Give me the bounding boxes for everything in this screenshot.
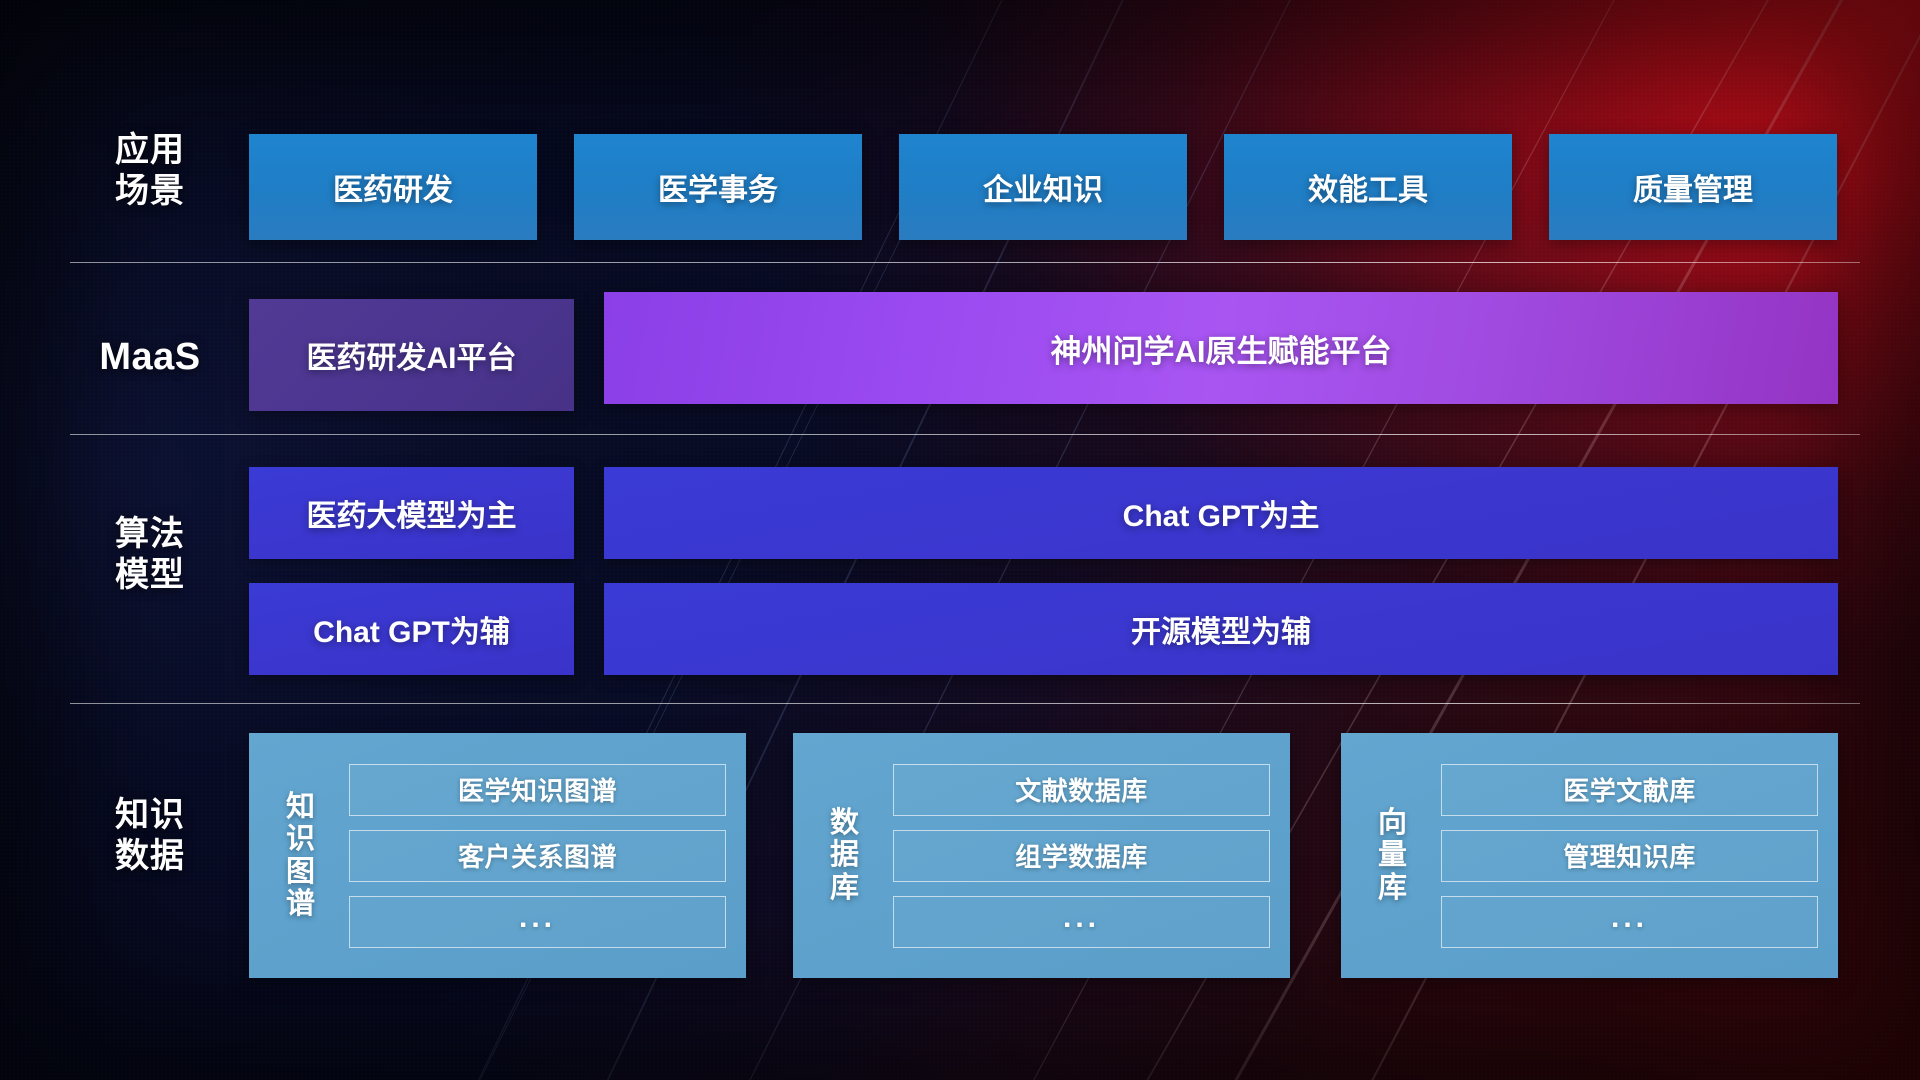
architecture-diagram: 应用 场景 医药研发 医学事务 企业知识 效能工具 质量管理 MaaS 医药研发… <box>0 0 1920 1080</box>
knowledge-group-database[interactable]: 数 据 库 文献数据库 组学数据库 ... <box>793 733 1290 978</box>
knowledge-group-side-label: 数 据 库 <box>807 807 883 904</box>
maas-card-shenzhou-wenxue-platform[interactable]: 神州问学AI原生赋能平台 <box>604 292 1838 404</box>
app-card-label: 企业知识 <box>983 165 1103 209</box>
app-card-medical-affairs[interactable]: 医学事务 <box>574 134 862 240</box>
maas-card-label: 神州问学AI原生赋能平台 <box>1051 326 1392 371</box>
knowledge-group-item-list: 医学文献库 管理知识库 ... <box>1431 764 1824 948</box>
knowledge-item-customer-relation-graph[interactable]: 客户关系图谱 <box>349 830 726 882</box>
knowledge-group-knowledge-graph[interactable]: 知 识 图 谱 医学知识图谱 客户关系图谱 ... <box>249 733 746 978</box>
algo-card-chatgpt-primary[interactable]: Chat GPT为主 <box>604 467 1838 559</box>
knowledge-item-label: 医学知识图谱 <box>458 771 617 808</box>
knowledge-item-management-knowledge-library[interactable]: 管理知识库 <box>1441 830 1818 882</box>
knowledge-item-label: 医学文献库 <box>1563 771 1696 808</box>
app-card-pharma-rd[interactable]: 医药研发 <box>249 134 537 240</box>
app-card-label: 医学事务 <box>658 165 778 209</box>
knowledge-item-label: 文献数据库 <box>1015 771 1148 808</box>
knowledge-item-label: 组学数据库 <box>1015 837 1148 874</box>
divider-maas-algorithm <box>70 434 1860 435</box>
divider-application-maas <box>70 262 1860 263</box>
knowledge-item-label: ... <box>1611 901 1648 935</box>
row-label-maas: MaaS <box>70 335 230 381</box>
row-label-knowledge-data: 知识 数据 <box>70 795 230 877</box>
app-card-quality-management[interactable]: 质量管理 <box>1549 134 1837 240</box>
app-card-label: 效能工具 <box>1308 165 1428 209</box>
knowledge-item-omics-database[interactable]: 组学数据库 <box>893 830 1270 882</box>
app-card-label: 质量管理 <box>1633 165 1753 209</box>
row-label-algorithm-models: 算法 模型 <box>70 514 230 596</box>
row-label-application-scenarios: 应用 场景 <box>70 130 230 212</box>
knowledge-item-more[interactable]: ... <box>893 896 1270 948</box>
algo-card-chatgpt-secondary[interactable]: Chat GPT为辅 <box>249 583 574 675</box>
knowledge-group-item-list: 医学知识图谱 客户关系图谱 ... <box>339 764 732 948</box>
knowledge-item-literature-database[interactable]: 文献数据库 <box>893 764 1270 816</box>
knowledge-group-item-list: 文献数据库 组学数据库 ... <box>883 764 1276 948</box>
app-card-enterprise-knowledge[interactable]: 企业知识 <box>899 134 1187 240</box>
knowledge-item-label: ... <box>519 901 556 935</box>
knowledge-group-side-label: 向 量 库 <box>1355 807 1431 904</box>
knowledge-group-side-label: 知 识 图 谱 <box>263 791 339 921</box>
algo-card-pharma-llm-primary[interactable]: 医药大模型为主 <box>249 467 574 559</box>
app-card-label: 医药研发 <box>333 165 453 209</box>
maas-card-pharma-ai-platform[interactable]: 医药研发AI平台 <box>249 299 574 411</box>
knowledge-group-vector-database[interactable]: 向 量 库 医学文献库 管理知识库 ... <box>1341 733 1838 978</box>
algo-card-label: Chat GPT为辅 <box>313 607 510 651</box>
divider-algorithm-knowledge <box>70 703 1860 704</box>
knowledge-item-more[interactable]: ... <box>349 896 726 948</box>
algo-card-label: 开源模型为辅 <box>1131 607 1311 651</box>
knowledge-item-label: 管理知识库 <box>1563 837 1696 874</box>
knowledge-item-label: ... <box>1063 901 1100 935</box>
app-card-efficiency-tools[interactable]: 效能工具 <box>1224 134 1512 240</box>
algo-card-label: 医药大模型为主 <box>307 491 517 535</box>
knowledge-item-medical-knowledge-graph[interactable]: 医学知识图谱 <box>349 764 726 816</box>
knowledge-item-label: 客户关系图谱 <box>458 837 617 874</box>
maas-card-label: 医药研发AI平台 <box>307 333 517 377</box>
knowledge-item-medical-literature-library[interactable]: 医学文献库 <box>1441 764 1818 816</box>
algo-card-opensource-secondary[interactable]: 开源模型为辅 <box>604 583 1838 675</box>
knowledge-item-more[interactable]: ... <box>1441 896 1818 948</box>
algo-card-label: Chat GPT为主 <box>1123 491 1320 535</box>
